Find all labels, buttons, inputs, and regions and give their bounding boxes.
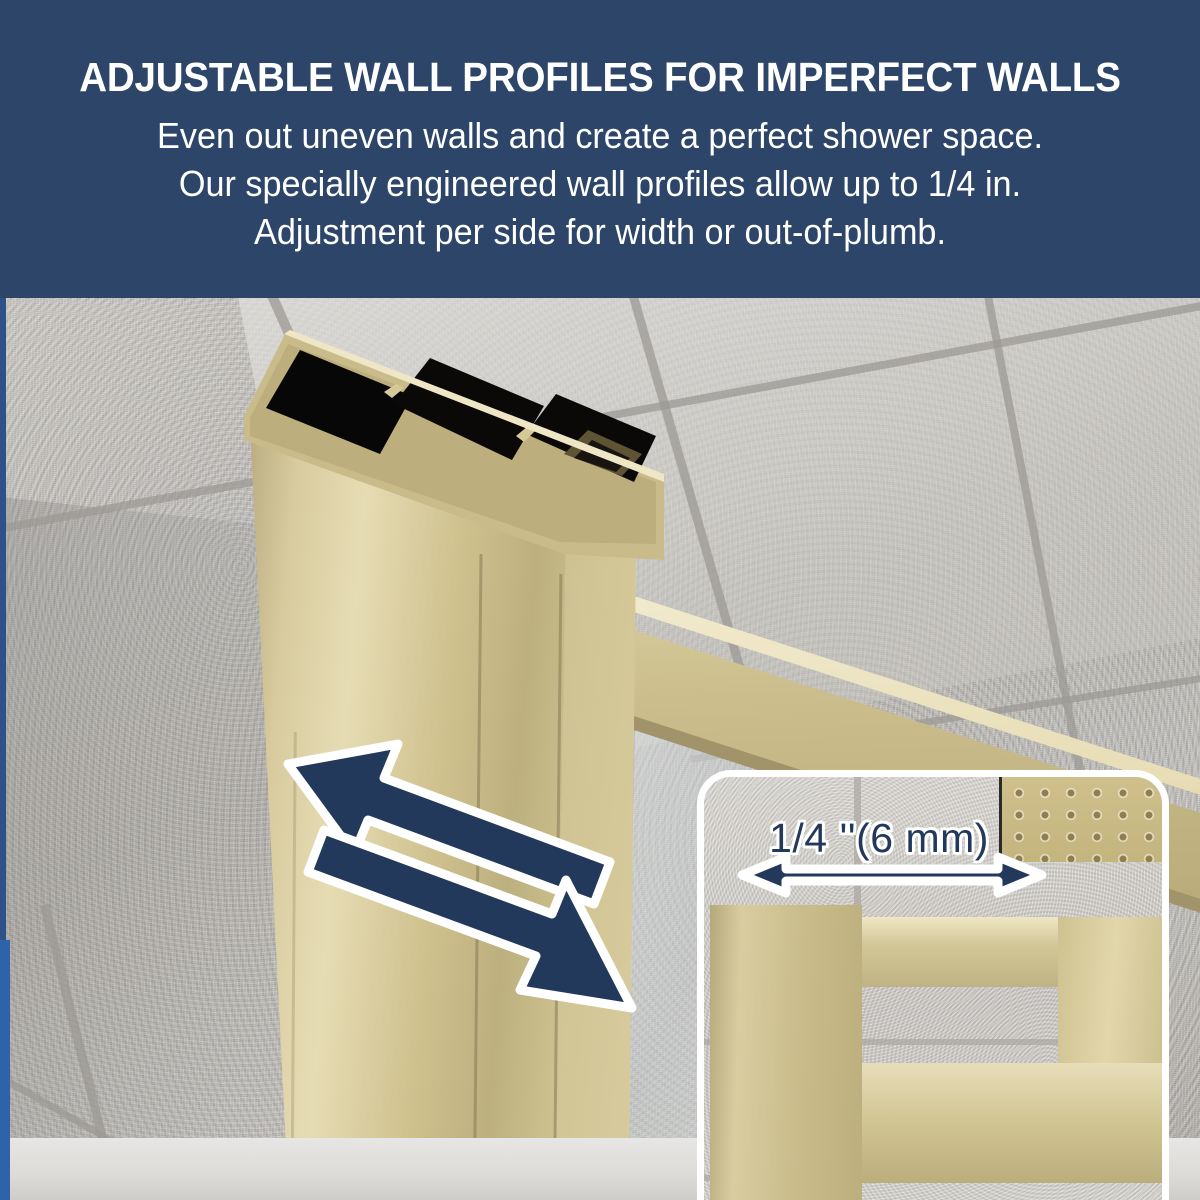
adjustment-arrows (280, 736, 640, 1016)
profile-cross-section (244, 330, 664, 560)
banner-subtitle-line-2: Our specially engineered wall profiles a… (30, 160, 1170, 208)
left-accent-rail-lower (0, 940, 10, 1200)
measurement-detail-panel: 1/4 ''(6 mm) (697, 770, 1169, 1200)
measurement-label: 1/4 ''(6 mm) (704, 815, 1054, 862)
product-feature-graphic: ADJUSTABLE WALL PROFILES FOR IMPERFECT W… (0, 0, 1200, 1200)
header-banner: ADJUSTABLE WALL PROFILES FOR IMPERFECT W… (0, 0, 1200, 298)
banner-subtitle-line-3: Adjustment per side for width or out-of-… (30, 208, 1170, 256)
banner-subtitle: Even out uneven walls and create a perfe… (30, 112, 1170, 256)
banner-subtitle-line-1: Even out uneven walls and create a perfe… (30, 112, 1170, 160)
page-title: ADJUSTABLE WALL PROFILES FOR IMPERFECT W… (36, 54, 1164, 100)
